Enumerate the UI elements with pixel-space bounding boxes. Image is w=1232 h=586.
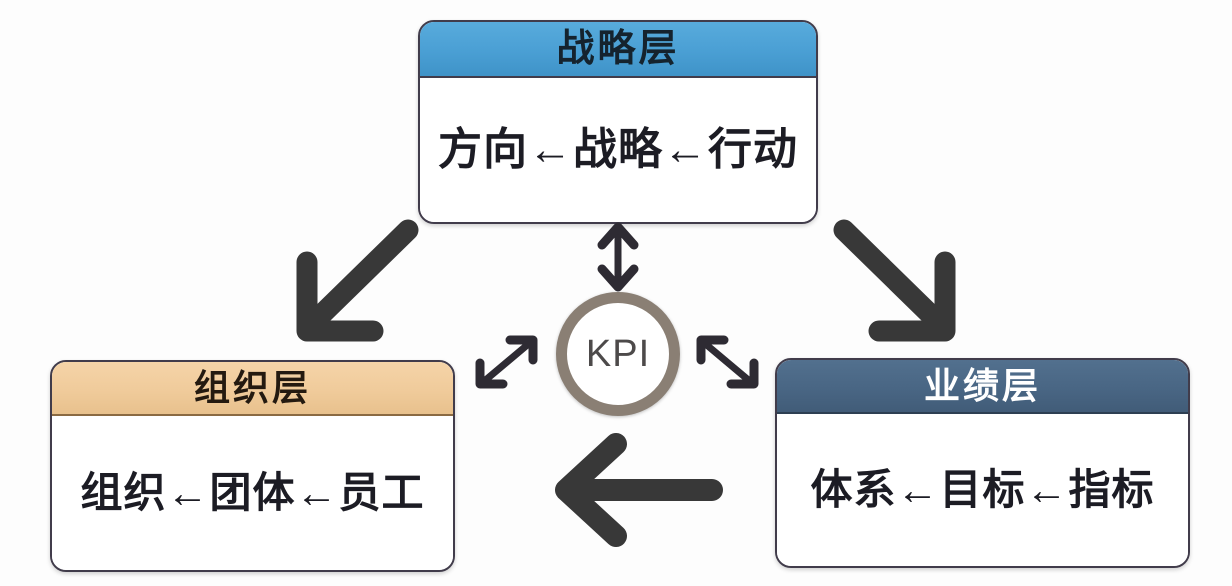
layer-header-organization: 组织层 <box>52 362 453 416</box>
kpi-hub-circle: KPI <box>556 292 680 416</box>
layer-header-strategy: 战略层 <box>420 22 816 78</box>
layer-box-strategy: 战略层 方向←战略←行动 <box>418 20 818 224</box>
layer-box-performance: 业绩层 体系←目标←指标 <box>775 358 1190 568</box>
layer-body-performance: 体系←目标←指标 <box>777 414 1188 566</box>
layer-header-performance: 业绩层 <box>777 360 1188 414</box>
arrow-down-left-icon <box>280 215 430 360</box>
double-arrow-diagonal-icon <box>692 333 764 393</box>
arrow-left-icon <box>540 430 720 550</box>
layer-body-organization: 组织←团体←员工 <box>52 416 453 570</box>
double-arrow-diagonal-icon <box>470 333 542 393</box>
diagram-canvas: 战略层 方向←战略←行动 组织层 组织←团体←员工 业绩层 体系←目标←指标 K… <box>0 0 1232 586</box>
kpi-hub-label: KPI <box>586 335 650 373</box>
double-arrow-vertical-icon <box>595 222 641 292</box>
layer-box-organization: 组织层 组织←团体←员工 <box>50 360 455 572</box>
arrow-down-right-icon <box>830 215 980 360</box>
layer-body-strategy: 方向←战略←行动 <box>420 78 816 222</box>
